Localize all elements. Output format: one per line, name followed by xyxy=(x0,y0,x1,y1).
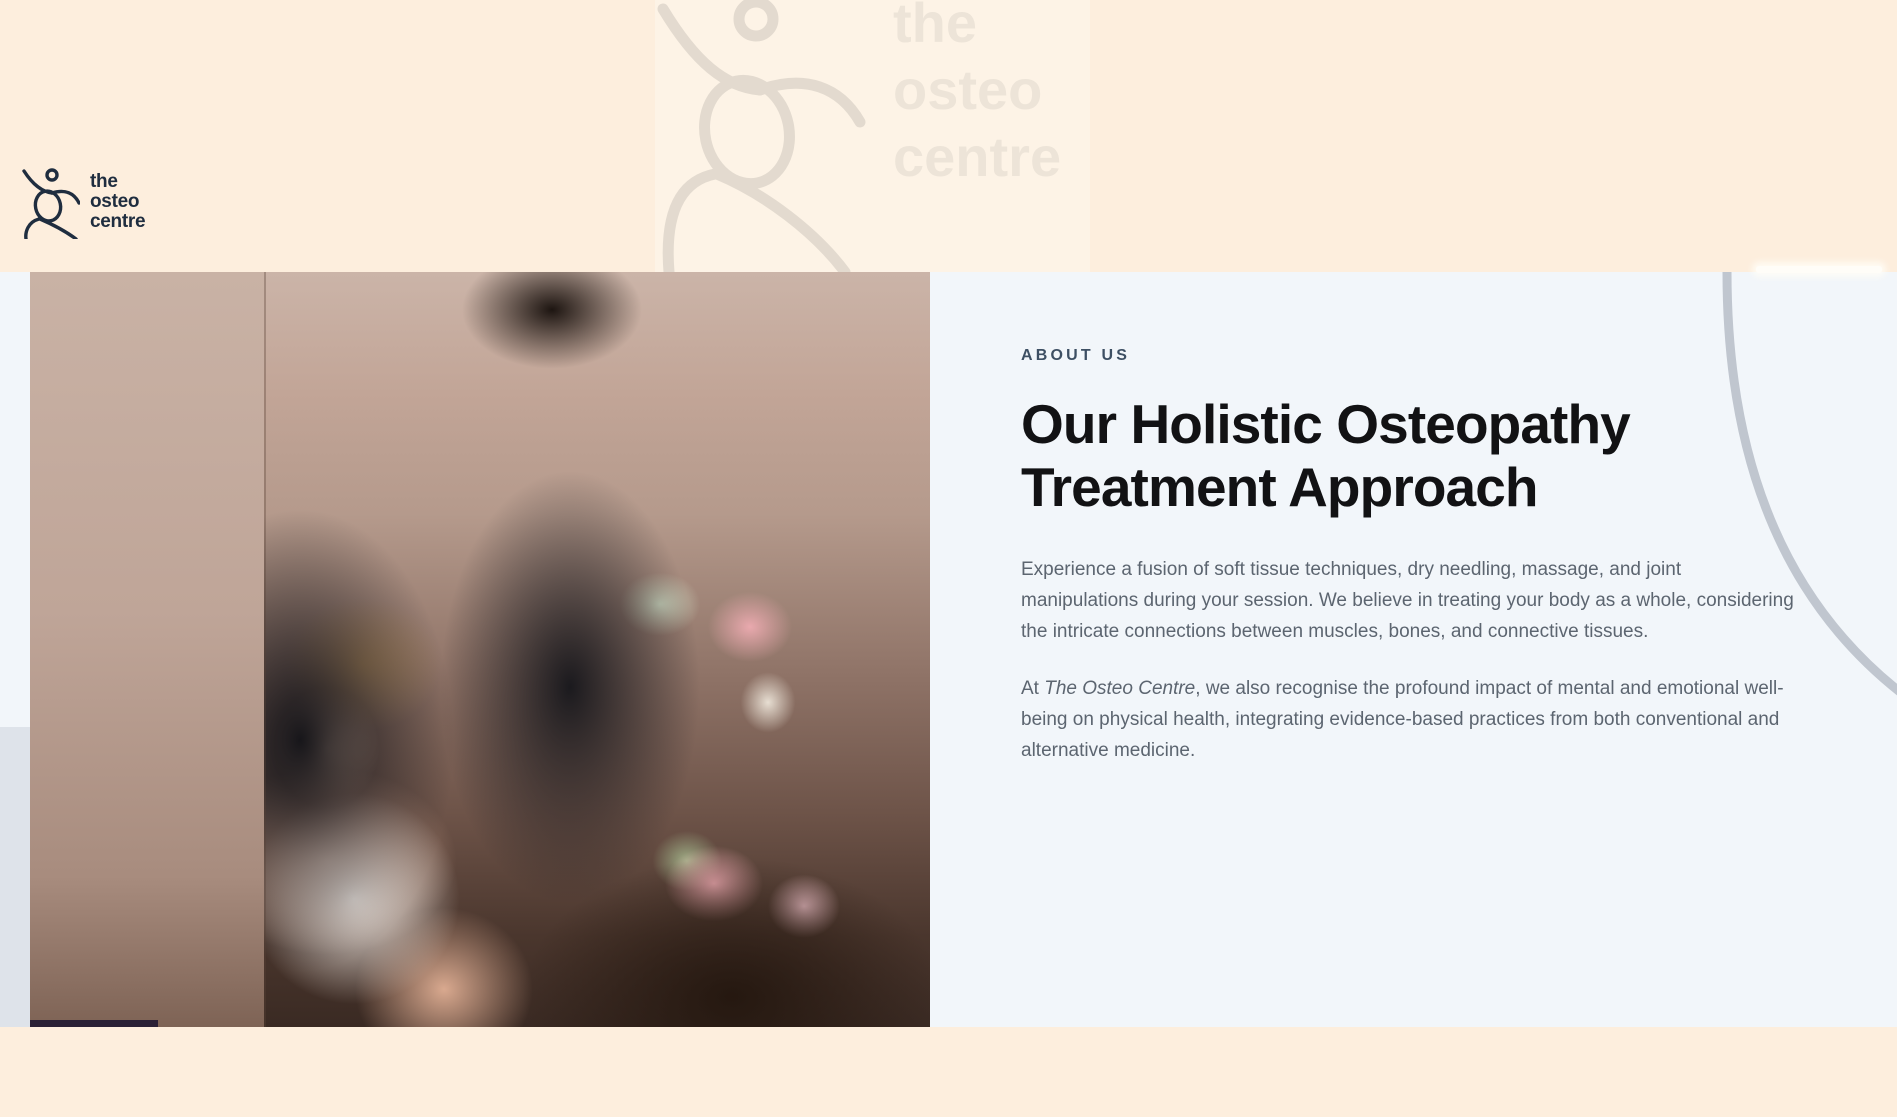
svg-text:centre: centre xyxy=(893,125,1061,188)
footer-band xyxy=(0,1027,1897,1117)
about-photo xyxy=(30,272,930,1027)
about-brand-emphasis: The Osteo Centre xyxy=(1044,678,1195,699)
about-text-column: ABOUT US Our Holistic Osteopathy Treatme… xyxy=(1021,272,1821,792)
header-watermark-panel: the osteo centre xyxy=(655,0,1090,272)
page-title: Our Holistic Osteopathy Treatment Approa… xyxy=(1021,393,1721,520)
svg-text:osteo: osteo xyxy=(893,58,1042,121)
header-highlight-bar xyxy=(1756,266,1882,273)
photo-bottom-accent-bar xyxy=(30,1020,158,1027)
logo-line-3: centre xyxy=(90,212,145,232)
svg-text:the: the xyxy=(893,0,977,54)
site-logo-wordmark: the osteo centre xyxy=(90,172,145,232)
about-paragraph-2-prefix: At xyxy=(1021,678,1044,699)
page-root: ABOUT US Our Holistic Osteopathy Treatme… xyxy=(0,0,1897,1117)
logo-line-2: osteo xyxy=(90,192,145,212)
about-paragraph-1: Experience a fusion of soft tissue techn… xyxy=(1021,554,1801,647)
osteopath-treating-patient-photo xyxy=(30,272,930,1027)
osteo-figure-watermark-icon: the osteo centre xyxy=(655,0,1090,272)
about-paragraph-2: At The Osteo Centre, we also recognise t… xyxy=(1021,673,1801,766)
site-logo[interactable]: the osteo centre xyxy=(22,162,182,242)
about-eyebrow-label: ABOUT US xyxy=(1021,347,1821,365)
osteo-figure-icon xyxy=(22,165,80,239)
logo-line-1: the xyxy=(90,172,145,192)
